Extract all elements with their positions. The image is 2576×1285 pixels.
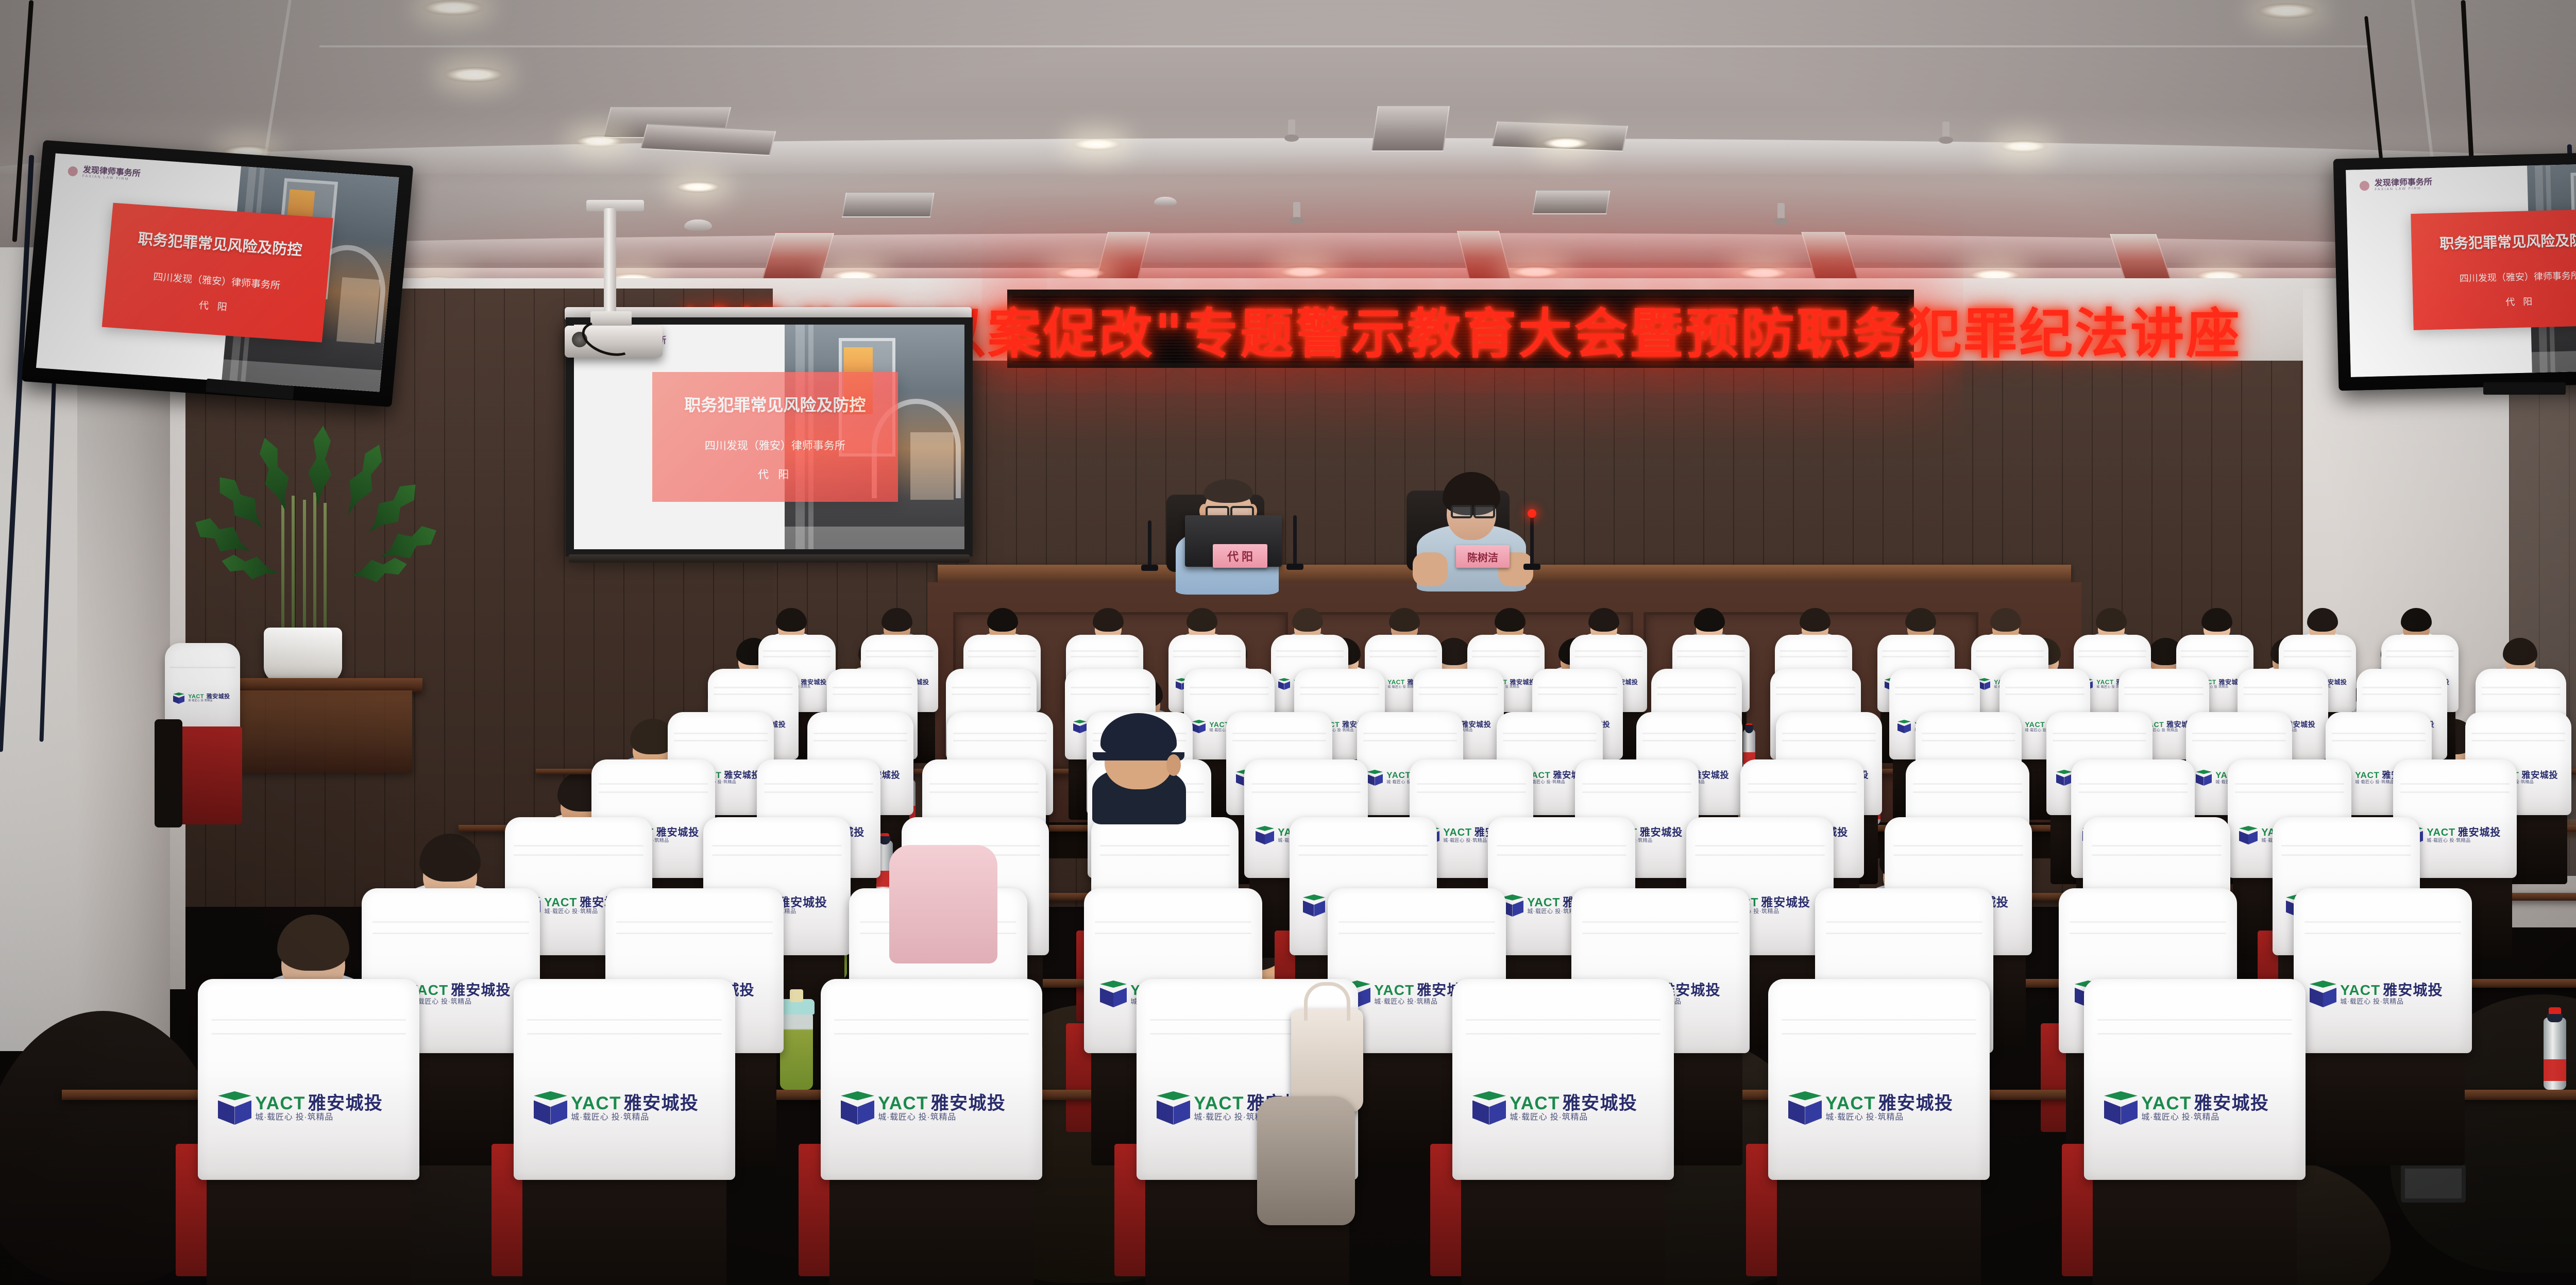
chair-seat-body bbox=[2301, 1050, 2465, 1165]
chair-brand-latin: YACT bbox=[1527, 896, 1560, 908]
pink-jacket bbox=[889, 845, 997, 963]
yact-cube-logo-icon bbox=[1978, 678, 1990, 690]
downlight bbox=[574, 135, 624, 147]
yact-cube-logo-icon bbox=[841, 1091, 874, 1125]
chair-brand-latin: YACT bbox=[544, 896, 577, 908]
yact-cube-logo-icon bbox=[1788, 1091, 1822, 1125]
chair-brand-latin: YACT bbox=[1374, 983, 1414, 998]
ac-vent-lower-left bbox=[842, 192, 935, 217]
presenter-hair bbox=[1204, 479, 1253, 503]
audience-hair bbox=[2503, 638, 2537, 665]
chair-brand-cn: 雅安城投 bbox=[1461, 721, 1491, 729]
slide-title-card: 职务犯罪常见风险及防控 四川发现（雅安）律师事务所 代 阳 bbox=[102, 202, 333, 342]
tea-thermos bbox=[780, 1011, 813, 1090]
audience-hair bbox=[2307, 608, 2338, 632]
audience-hair bbox=[2401, 608, 2432, 632]
ceiling-seam-top bbox=[319, 45, 2370, 47]
foreground-glasses-icon bbox=[2401, 1164, 2466, 1203]
projection-screen-weight-bar bbox=[569, 554, 970, 563]
chair-brand-latin: YACT bbox=[2141, 1094, 2192, 1113]
chair-brand-latin: YACT bbox=[2355, 771, 2379, 780]
slide-title: 职务犯罪常见风险及防控 bbox=[137, 227, 303, 260]
yact-cube-logo-icon bbox=[1256, 826, 1274, 844]
yact-cube-logo-icon bbox=[1367, 770, 1383, 786]
audience-hair bbox=[1800, 608, 1831, 632]
mic-active-indicator bbox=[1528, 509, 1536, 518]
chair-cover bbox=[2084, 979, 2306, 1180]
chair-brand-cn: 雅安城投 bbox=[2458, 827, 2501, 838]
audience-hair bbox=[1389, 608, 1420, 632]
audience-hair bbox=[2201, 608, 2232, 632]
audience-chair: YACT 雅安城投 城·载匠心 投·筑精品 bbox=[1768, 979, 1990, 1180]
audience-hair bbox=[277, 915, 349, 971]
slide-logo-en: FAXIAN LAW FIRM bbox=[2375, 187, 2432, 192]
aisle-seat-left-arm bbox=[155, 719, 182, 827]
chair-seat-body bbox=[829, 1177, 1033, 1285]
chair-brand-latin: YACT bbox=[878, 1094, 928, 1113]
microphone-right bbox=[1530, 514, 1534, 566]
microphone-center bbox=[1293, 515, 1297, 566]
chair-brand-latin: YACT bbox=[571, 1094, 621, 1113]
plant-pot bbox=[264, 628, 342, 682]
downlight bbox=[2257, 3, 2318, 19]
audience-hair bbox=[1093, 608, 1124, 632]
audience-chair: YACT 雅安城投 城·载匠心 投·筑精品 bbox=[821, 979, 1042, 1180]
downlight bbox=[675, 181, 721, 193]
tv-right-screen: 发现律师事务所 FAXIAN LAW FIRM 职务犯罪常见风险及防控 四川发现… bbox=[2346, 162, 2576, 377]
chair-brand-cn: 雅安城投 bbox=[778, 896, 827, 908]
chair-brand-latin: YACT bbox=[2427, 827, 2455, 838]
chair-brand-latin: YACT bbox=[1825, 1094, 1876, 1113]
sprinkler-2 bbox=[1942, 122, 1950, 139]
slide-organization: 四川发现（雅安）律师事务所 bbox=[152, 269, 281, 292]
chair-brand: YACT 雅安城投 城·载匠心 投·筑精品 bbox=[218, 1091, 383, 1125]
chair-brand: YACT 雅安城投 城·载匠心 投·筑精品 bbox=[2104, 1091, 2269, 1125]
chair-brand-tagline: 城·载匠心 投·筑精品 bbox=[2141, 1113, 2269, 1122]
chair-brand-cn: 雅安城投 bbox=[1563, 1094, 1638, 1113]
chair-brand-tagline: 城·载匠心 投·筑精品 bbox=[1825, 1113, 1953, 1122]
yact-cube-logo-icon bbox=[1157, 1091, 1190, 1125]
chair-brand: YACT 雅安城投 城·载匠心 投·筑精品 bbox=[841, 1091, 1006, 1125]
chair-brand-cn: 雅安城投 bbox=[656, 827, 699, 838]
sprinkler-3 bbox=[1293, 202, 1300, 219]
smoke-detector-2-icon bbox=[1154, 197, 1177, 206]
side-table-left-body bbox=[216, 690, 412, 773]
audience-hair bbox=[987, 608, 1018, 632]
slide-logo: 发现律师事务所 FAXIAN LAW FIRM bbox=[67, 165, 141, 182]
conference-hall-photo: 城投公司"以案促改"专题警示教育大会暨预防职务犯罪纪法讲座 发现律师事务所 bbox=[0, 0, 2576, 1285]
chair-brand-latin: YACT bbox=[1386, 771, 1411, 780]
microphone-left bbox=[1148, 520, 1151, 567]
chair-seat-body bbox=[207, 1177, 411, 1285]
downlight bbox=[443, 67, 505, 82]
yact-cube-logo-icon bbox=[1192, 720, 1206, 733]
chair-brand-tagline: 城·载匠心 投·筑精品 bbox=[878, 1113, 1006, 1122]
audience-hair bbox=[1187, 608, 1217, 632]
baseball-cap bbox=[1100, 713, 1177, 757]
chair-brand: YACT 雅安城投 城·载匠心 投·筑精品 bbox=[1788, 1091, 1953, 1125]
slide-title: 职务犯罪常见风险及防控 bbox=[684, 392, 866, 416]
slide-presenter: 代 阳 bbox=[2505, 294, 2535, 308]
chair-brand: YACT 雅安城投 城·载匠心 投·筑精品 bbox=[534, 1091, 699, 1125]
chair-cover bbox=[514, 979, 735, 1180]
slide-title: 职务犯罪常见风险及防控 bbox=[2439, 229, 2576, 253]
name-placard-host: 陈树洁 bbox=[1456, 545, 1510, 568]
host-glasses-icon bbox=[1451, 505, 1472, 518]
projector-mount-pole bbox=[604, 208, 616, 314]
audience-hair bbox=[1990, 608, 2021, 632]
led-banner-text: 城投公司"以案促改"专题警示教育大会暨预防职务犯罪纪法讲座 bbox=[1012, 295, 1909, 363]
slide-tv-left: 发现律师事务所 FAXIAN LAW FIRM 职务犯罪常见风险及防控 四川发现… bbox=[36, 154, 399, 392]
chair-brand-cn: 雅安城投 bbox=[1640, 827, 1683, 838]
yact-cube-logo-icon bbox=[1303, 894, 1325, 917]
audience-chair: YACT 雅安城投 城·载匠心 投·筑精品 bbox=[2084, 979, 2306, 1180]
chair-seat-body bbox=[522, 1177, 726, 1285]
chair-cover bbox=[1452, 979, 1674, 1180]
sprinkler-1 bbox=[1288, 120, 1295, 137]
yact-cube-logo-icon bbox=[2196, 770, 2212, 786]
audience-hair bbox=[776, 608, 807, 632]
downlight bbox=[1509, 266, 1562, 278]
host-glasses-icon-2 bbox=[1473, 505, 1495, 518]
ac-vent-mid bbox=[1371, 105, 1450, 151]
chair-brand-latin: YACT bbox=[1387, 679, 1405, 686]
yact-cube-logo-icon bbox=[1073, 720, 1087, 733]
downlight bbox=[1054, 267, 1108, 279]
chair-brand-cn: 雅安城投 bbox=[931, 1094, 1006, 1113]
audience-hair bbox=[1495, 608, 1526, 632]
sprinkler-4 bbox=[1777, 203, 1785, 221]
tv-right-mount bbox=[2483, 382, 2566, 395]
chair-brand-cn: 雅安城投 bbox=[2521, 771, 2558, 780]
downlight bbox=[1999, 140, 2048, 153]
chair-brand-cn: 雅安城投 bbox=[1761, 896, 1810, 908]
chair-brand: YACT 雅安城投 城·载匠心 投·筑精品 bbox=[1472, 1091, 1637, 1125]
chair-seat-body bbox=[1777, 1177, 1981, 1285]
chair-seat-body bbox=[2093, 1177, 2297, 1285]
yact-cube-logo-icon bbox=[1100, 980, 1127, 1007]
downlight bbox=[1540, 137, 1591, 149]
downlight bbox=[1736, 267, 1790, 279]
audience-chair: YACT 雅安城投 城·载匠心 投·筑精品 bbox=[1452, 979, 1674, 1180]
slide-organization: 四川发现（雅安）律师事务所 bbox=[2460, 268, 2576, 285]
slide-projected: 发现律师事务所 FAXIAN LAW FIRM 职务犯罪常见风险及防控 四川发现… bbox=[574, 325, 964, 549]
chair-seat-body bbox=[1461, 1177, 1665, 1285]
yact-cube-logo-icon bbox=[534, 1091, 567, 1125]
water-bottle bbox=[2544, 1018, 2566, 1090]
projection-screen-surface: 发现律师事务所 FAXIAN LAW FIRM 职务犯罪常见风险及防控 四川发现… bbox=[574, 325, 964, 549]
tv-left: 发现律师事务所 FAXIAN LAW FIRM 职务犯罪常见风险及防控 四川发现… bbox=[21, 140, 413, 407]
chair-brand-cn: 雅安城投 bbox=[724, 771, 760, 780]
chair-brand: YACT 雅安城投 城·载匠心 投·筑精品 bbox=[2310, 980, 2443, 1007]
slide-title-card: 职务犯罪常见风险及防控 四川发现（雅安）律师事务所 代 阳 bbox=[652, 372, 899, 502]
audience-hair bbox=[1588, 608, 1619, 632]
smoke-detector-icon bbox=[684, 219, 712, 231]
yact-cube-logo-icon bbox=[173, 692, 184, 704]
audience-chair: YACT 雅安城投 城·载匠心 投·筑精品 bbox=[514, 979, 735, 1180]
slide-tv-right: 发现律师事务所 FAXIAN LAW FIRM 职务犯罪常见风险及防控 四川发现… bbox=[2346, 162, 2576, 377]
chair-brand-cn: 雅安城投 bbox=[624, 1094, 699, 1113]
chair-brand-latin: YACT bbox=[2025, 721, 2045, 729]
chair-brand-cn: 雅安城投 bbox=[2194, 1094, 2269, 1113]
chair-brand-latin: YACT bbox=[1443, 827, 1472, 838]
chair-brand-cn: 雅安城投 bbox=[451, 983, 511, 998]
chair-brand-latin: YACT bbox=[2096, 679, 2114, 686]
audience-hair bbox=[419, 834, 481, 882]
chair-cover bbox=[2294, 888, 2472, 1053]
chair-brand-cn: 雅安城投 bbox=[2383, 983, 2443, 998]
slide-presenter: 代 阳 bbox=[198, 298, 231, 314]
chair-cover bbox=[198, 979, 419, 1180]
yact-cube-logo-icon bbox=[1897, 720, 1911, 733]
chair-brand-latin: YACT bbox=[1194, 1094, 1244, 1113]
led-banner: 城投公司"以案促改"专题警示教育大会暨预防职务犯罪纪法讲座 bbox=[1007, 290, 1914, 368]
tv-right: 发现律师事务所 FAXIAN LAW FIRM 职务犯罪常见风险及防控 四川发现… bbox=[2333, 150, 2576, 391]
chair-brand-cn: 雅安城投 bbox=[308, 1094, 383, 1113]
chair-cover bbox=[1768, 979, 1990, 1180]
yact-cube-logo-icon bbox=[2310, 980, 2336, 1007]
chair-cover bbox=[821, 979, 1042, 1180]
downlight bbox=[1278, 266, 1331, 278]
backpack bbox=[1257, 1096, 1355, 1225]
yact-cube-logo-icon bbox=[1278, 678, 1290, 690]
yact-cube-logo-icon bbox=[2104, 1091, 2138, 1125]
slide-organization: 四川发现（雅安）律师事务所 bbox=[705, 437, 845, 453]
chair-brand-cn: 雅安城投 bbox=[1878, 1094, 1954, 1113]
audience-chair: YACT 雅安城投 城·载匠心 投·筑精品 bbox=[2294, 888, 2472, 1053]
yact-cube-logo-icon bbox=[2239, 826, 2258, 844]
yact-cube-logo-icon bbox=[1472, 1091, 1506, 1125]
slide-title-card: 职务犯罪常见风险及防控 四川发现（雅安）律师事务所 代 阳 bbox=[2411, 209, 2576, 330]
downlight bbox=[422, 0, 484, 15]
chair-brand-tagline: 城·载匠心 投·筑精品 bbox=[408, 998, 511, 1005]
chair-brand-latin: YACT bbox=[255, 1094, 306, 1113]
tv-left-screen: 发现律师事务所 FAXIAN LAW FIRM 职务犯罪常见风险及防控 四川发现… bbox=[36, 154, 399, 392]
chair-brand-tagline: 城·载匠心 投·筑精品 bbox=[1510, 1113, 1637, 1122]
yact-cube-logo-icon bbox=[2056, 770, 2072, 786]
slide-presenter: 代 阳 bbox=[758, 466, 792, 482]
chair-brand-cn: 雅安城投 bbox=[1510, 679, 1535, 686]
chair-brand-tagline: 城·载匠心 投·筑精品 bbox=[255, 1113, 383, 1122]
chair-brand-latin: YACT bbox=[1510, 1094, 1560, 1113]
audience-hair bbox=[1694, 608, 1725, 632]
chair-brand-tagline: 城·载匠心 投·筑精品 bbox=[188, 700, 230, 702]
audience-hair bbox=[882, 608, 912, 632]
audience-chair: YACT 雅安城投 城·载匠心 投·筑精品 bbox=[198, 979, 419, 1180]
ac-vent-lower-right bbox=[1532, 190, 1611, 214]
slide-logo: 发现律师事务所 FAXIAN LAW FIRM bbox=[2360, 178, 2433, 192]
chair-brand-cn: 雅安城投 bbox=[801, 679, 826, 686]
audience-hair bbox=[1292, 608, 1323, 632]
audience-hair bbox=[2096, 608, 2127, 632]
yact-cube-logo-icon bbox=[218, 1091, 251, 1125]
chair-brand: YACT 雅安城投 城·载匠心 投·筑精品 bbox=[173, 692, 230, 704]
audience-member-with-cap bbox=[1095, 708, 1183, 801]
downlight bbox=[1072, 138, 1122, 150]
chair-brand-latin: YACT bbox=[2340, 983, 2380, 998]
name-placard-presenter: 代 阳 bbox=[1213, 544, 1267, 568]
chair-brand-tagline: 城·载匠心 投·筑精品 bbox=[2427, 838, 2501, 843]
audience-hair bbox=[1905, 608, 1936, 632]
chair-brand-tagline: 城·载匠心 投·筑精品 bbox=[571, 1113, 699, 1122]
host-arm-left bbox=[1413, 552, 1448, 586]
chair-brand-tagline: 城·载匠心 投·筑精品 bbox=[2340, 998, 2443, 1005]
